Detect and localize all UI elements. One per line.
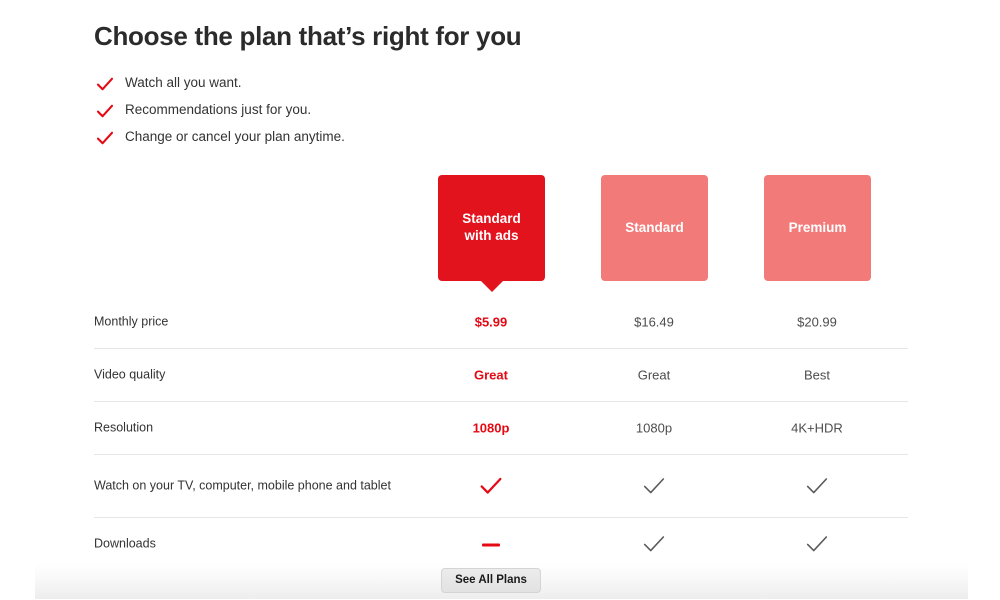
check-icon [640,535,668,550]
cell-premium: $20.99 [757,315,877,330]
plan-chooser-page: Choose the plan that’s right for you Wat… [0,0,1000,600]
cell-standard-with-ads: Great [431,368,551,383]
cell-standard-with-ads: 1080p [431,421,551,436]
cell-standard: $16.49 [594,315,714,330]
cell-premium [757,472,877,500]
check-icon [803,535,831,550]
table-row: Watch on your TV, computer, mobile phone… [94,455,908,518]
check-icon [94,100,116,122]
cell-standard-with-ads [431,472,551,500]
feature-label: Watch on your TV, computer, mobile phone… [94,478,424,495]
list-item: Change or cancel your plan anytime. [94,124,614,151]
list-item: Recommendations just for you. [94,97,614,124]
table-row: Video quality Great Great Best [94,349,908,402]
check-icon [640,477,668,492]
cell-premium: 4K+HDR [757,421,877,436]
cell-standard [594,530,714,558]
page-title: Choose the plan that’s right for you [94,21,521,52]
see-all-plans-button[interactable]: See All Plans [441,568,541,593]
cell-premium: Best [757,368,877,383]
feature-label: Downloads [94,536,424,553]
feature-label: Resolution [94,420,424,437]
feature-label: Video quality [94,367,424,384]
list-item-label: Watch all you want. [125,76,242,91]
plan-card-premium[interactable]: Premium [764,175,871,281]
cell-standard: Great [594,368,714,383]
check-icon [94,127,116,149]
plan-card-label: Standard [625,220,684,237]
plan-comparison-table: Monthly price $5.99 $16.49 $20.99 Video … [94,296,908,571]
plan-card-label: Premium [789,220,847,237]
cell-standard: 1080p [594,421,714,436]
cell-standard-with-ads [431,537,551,552]
plan-cards: Standardwith ads Standard Premium [0,175,1000,295]
benefits-list: Watch all you want. Recommendations just… [94,70,614,151]
feature-label: Monthly price [94,314,424,331]
plan-card-label: Standardwith ads [462,211,521,245]
cell-premium [757,530,877,558]
check-icon [803,477,831,492]
cell-standard [594,472,714,500]
selected-plan-pointer [481,281,503,292]
cell-standard-with-ads: $5.99 [431,315,551,330]
check-icon [477,477,505,492]
table-row: Monthly price $5.99 $16.49 $20.99 [94,296,908,349]
dash-icon [482,544,500,547]
plan-card-standard-with-ads[interactable]: Standardwith ads [438,175,545,281]
check-icon [94,73,116,95]
plan-card-standard[interactable]: Standard [601,175,708,281]
list-item-label: Recommendations just for you. [125,103,311,118]
list-item: Watch all you want. [94,70,614,97]
list-item-label: Change or cancel your plan anytime. [125,130,345,145]
table-row: Resolution 1080p 1080p 4K+HDR [94,402,908,455]
